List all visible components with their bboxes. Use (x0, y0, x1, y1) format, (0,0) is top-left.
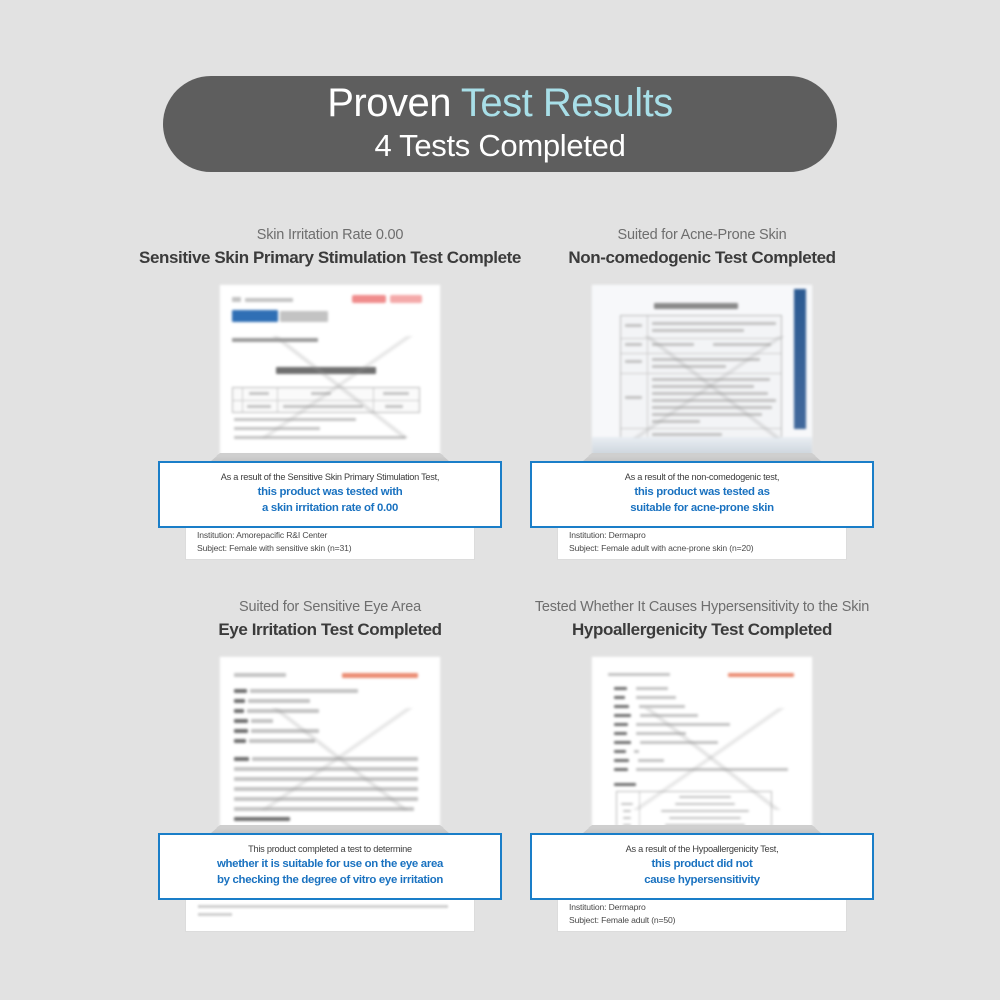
result-callout: As a result of the Sensitive Skin Primar… (158, 461, 502, 528)
card-subtitle: Suited for Acne-Prone Skin (492, 225, 912, 245)
card-subtitle: Suited for Sensitive Eye Area (120, 597, 540, 617)
callout-lead: As a result of the Sensitive Skin Primar… (168, 472, 492, 484)
test-card-eye-irritation: Suited for Sensitive Eye Area Eye Irrita… (120, 597, 540, 977)
callout-line-1: this product was tested as (540, 485, 864, 500)
callout-line-2: by checking the degree of vitro eye irri… (168, 873, 492, 888)
card-stage: Test Period: 2017.07.11~2017.07.13 Insti… (120, 285, 540, 605)
meta-subject: Subject: Female with sensitive skin (n=3… (197, 542, 351, 555)
card-stage: This product completed a test to determi… (120, 657, 540, 977)
card-title: Non-comedogenic Test Completed (492, 245, 912, 271)
banner-title: Proven Test Results (327, 82, 673, 124)
certificate-document-image (592, 657, 812, 827)
banner-title-accent: Test Results (461, 81, 673, 125)
callout-lead: This product completed a test to determi… (168, 844, 492, 856)
meta-subject: Subject: Female adult (n=50) (569, 914, 703, 927)
callout-line-1: whether it is suitable for use on the ey… (168, 857, 492, 872)
card-stage: Test Period: 2016.12.19~2016.01.18 Insti… (492, 285, 912, 605)
card-stage: Test Period: 2016.12.05~2016.01.13 Insti… (492, 657, 912, 977)
result-callout: As a result of the non-comedogenic test,… (530, 461, 874, 528)
result-callout: This product completed a test to determi… (158, 833, 502, 900)
callout-line-2: suitable for acne-prone skin (540, 501, 864, 516)
callout-line-1: this product did not (540, 857, 864, 872)
card-subtitle: Tested Whether It Causes Hypersensitivit… (492, 597, 912, 617)
test-card-non-comedogenic: Suited for Acne-Prone Skin Non-comedogen… (492, 225, 912, 605)
card-title: Hypoallergenicity Test Completed (492, 617, 912, 643)
callout-lead: As a result of the Hypoallergenicity Tes… (540, 844, 864, 856)
certificate-document-image (220, 657, 440, 827)
meta-institution: Institution: Amorepacific R&I Center (197, 529, 351, 542)
test-card-hypoallergenicity: Tested Whether It Causes Hypersensitivit… (492, 597, 912, 977)
certificate-document-image (220, 285, 440, 455)
meta-subject: Subject: Female adult with acne-prone sk… (569, 542, 753, 555)
meta-institution: Institution: Dermapro (569, 901, 703, 914)
document-accent-bar (794, 289, 806, 429)
callout-lead: As a result of the non-comedogenic test, (540, 472, 864, 484)
callout-line-1: this product was tested with (168, 485, 492, 500)
certificate-document-image (592, 285, 812, 455)
card-subtitle: Skin Irritation Rate 0.00 (120, 225, 540, 245)
card-title: Sensitive Skin Primary Stimulation Test … (120, 245, 540, 271)
callout-line-2: cause hypersensitivity (540, 873, 864, 888)
callout-line-2: a skin irritation rate of 0.00 (168, 501, 492, 516)
result-callout: As a result of the Hypoallergenicity Tes… (530, 833, 874, 900)
banner-title-plain: Proven (327, 81, 461, 125)
card-title: Eye Irritation Test Completed (120, 617, 540, 643)
meta-institution: Institution: Dermapro (569, 529, 753, 542)
test-card-sensitive-skin-primary-stimulation: Skin Irritation Rate 0.00 Sensitive Skin… (120, 225, 540, 605)
header-banner: Proven Test Results 4 Tests Completed (163, 76, 837, 172)
banner-subtitle: 4 Tests Completed (374, 126, 625, 166)
